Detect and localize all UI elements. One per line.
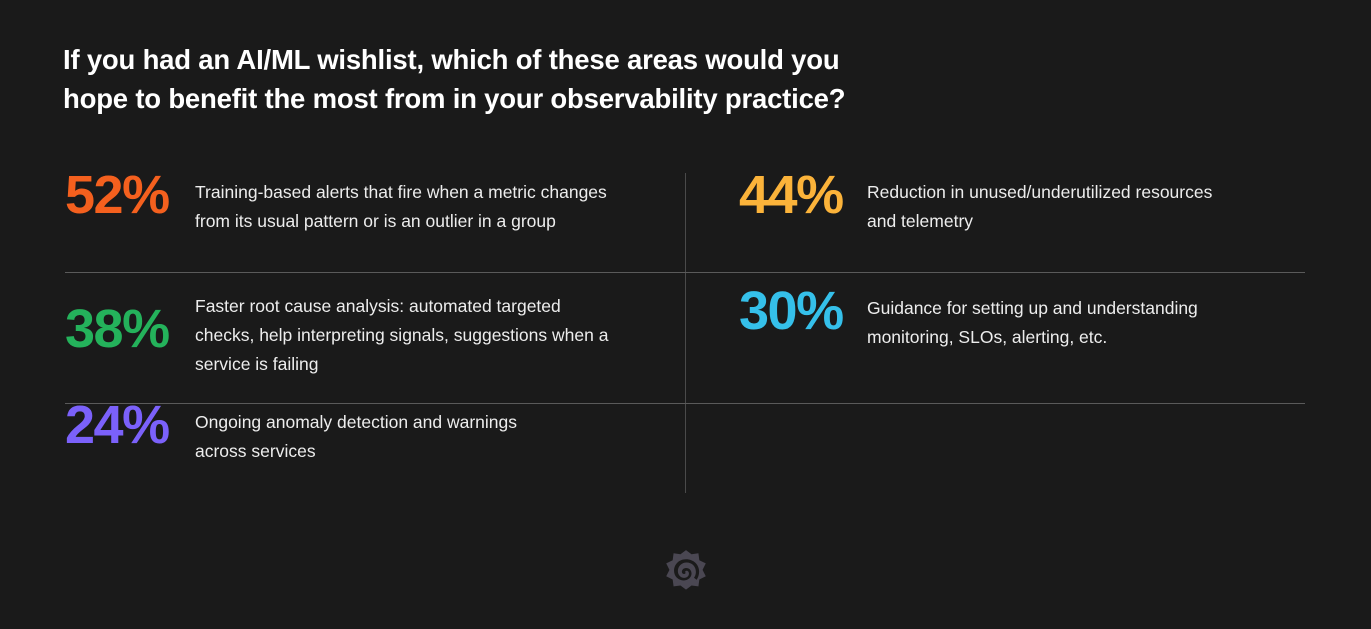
- page-title-line-1: If you had an AI/ML wishlist, which of t…: [63, 40, 963, 79]
- stat-item-24: 24% Ongoing anomaly detection and warnin…: [65, 403, 685, 493]
- stat-value-24: 24%: [65, 398, 195, 452]
- slide-root: If you had an AI/ML wishlist, which of t…: [0, 0, 1371, 629]
- stat-desc-line: Training-based alerts that fire when a m…: [195, 178, 607, 207]
- stat-value-38: 38%: [65, 302, 195, 356]
- stat-desc-line: Guidance for setting up and understandin…: [867, 294, 1198, 323]
- stat-value-30: 30%: [739, 284, 867, 338]
- grafana-logo-icon: [663, 550, 709, 598]
- stat-description-24: Ongoing anomaly detection and warnings a…: [195, 403, 517, 466]
- stat-desc-line: monitoring, SLOs, alerting, etc.: [867, 323, 1198, 352]
- grafana-logo: [663, 550, 709, 598]
- page-title-line-2: hope to benefit the most from in your ob…: [63, 79, 963, 118]
- stat-description-30: Guidance for setting up and understandin…: [867, 272, 1198, 352]
- page-title: If you had an AI/ML wishlist, which of t…: [63, 40, 963, 118]
- stat-description-44: Reduction in unused/underutilized resour…: [867, 173, 1212, 236]
- stat-desc-line: checks, help interpreting signals, sugge…: [195, 321, 608, 350]
- stat-item-44: 44% Reduction in unused/underutilized re…: [685, 173, 1305, 272]
- stat-desc-line: Faster root cause analysis: automated ta…: [195, 292, 608, 321]
- stats-grid: 52% Training-based alerts that fire when…: [65, 173, 1305, 493]
- stat-desc-line: across services: [195, 437, 517, 466]
- stat-value-52: 52%: [65, 168, 195, 222]
- stat-description-52: Training-based alerts that fire when a m…: [195, 173, 607, 236]
- stat-desc-line: service is failing: [195, 350, 608, 379]
- stat-desc-line: Reduction in unused/underutilized resour…: [867, 178, 1212, 207]
- stat-item-38: 38% Faster root cause analysis: automate…: [65, 272, 685, 403]
- stat-description-38: Faster root cause analysis: automated ta…: [195, 272, 608, 379]
- stat-desc-line: and telemetry: [867, 207, 1212, 236]
- stat-item-30: 30% Guidance for setting up and understa…: [685, 272, 1305, 403]
- stats-row-2: 38% Faster root cause analysis: automate…: [65, 272, 1305, 403]
- stat-item-empty: [685, 403, 1305, 493]
- stat-desc-line: from its usual pattern or is an outlier …: [195, 207, 607, 236]
- stat-value-44: 44%: [739, 168, 867, 222]
- stats-row-3: 24% Ongoing anomaly detection and warnin…: [65, 403, 1305, 493]
- stat-desc-line: Ongoing anomaly detection and warnings: [195, 408, 517, 437]
- stats-row-1: 52% Training-based alerts that fire when…: [65, 173, 1305, 272]
- stat-item-52: 52% Training-based alerts that fire when…: [65, 173, 685, 272]
